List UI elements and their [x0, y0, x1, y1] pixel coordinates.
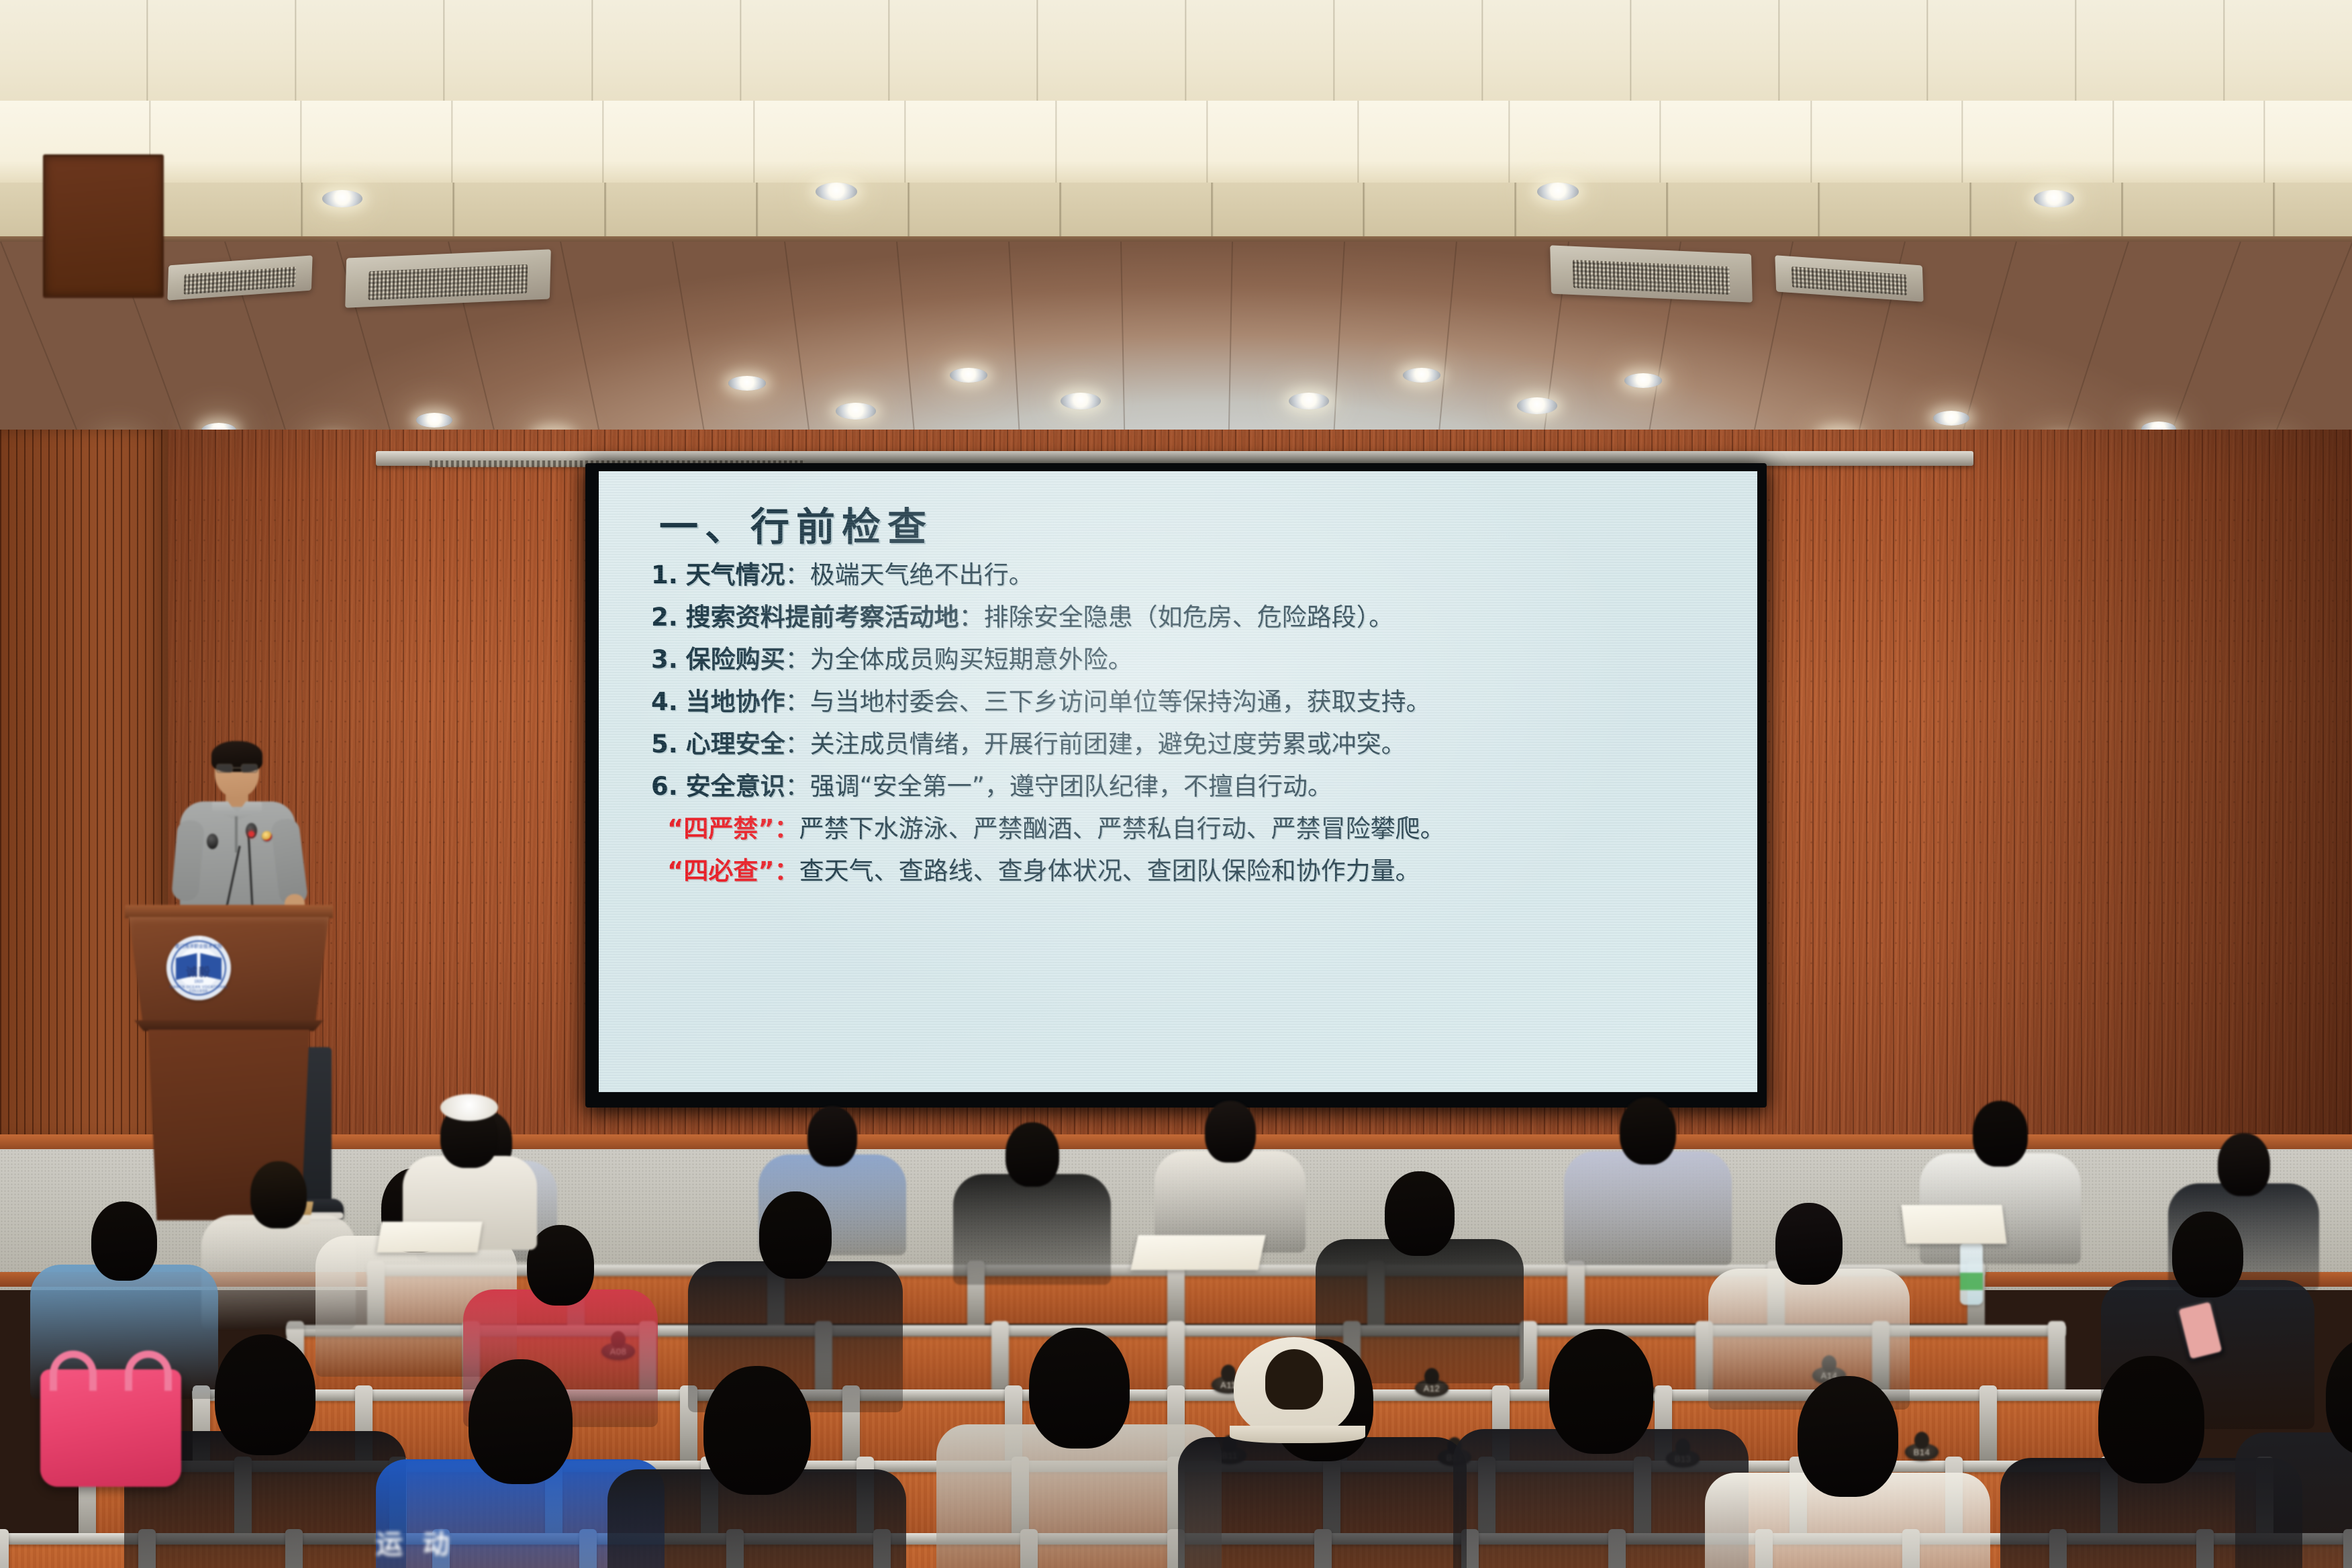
slide-line-6: 6. 安全意识：强调“安全第一”，遵守团队纪律，不擅自行动。 — [651, 774, 1728, 799]
ceiling-light-cove — [0, 101, 2352, 187]
emblem-bottom-text: XIAMEN OCEAN VOCATIONAL COLLEGE — [166, 985, 231, 993]
person-head — [91, 1202, 157, 1281]
person-head — [1798, 1376, 1898, 1497]
seat-divider — [0, 1529, 9, 1568]
audience-front-9 — [2235, 1336, 2352, 1568]
papers-on-desk-left — [377, 1222, 482, 1253]
slide-line-1: 1. 天气情况：极端天气绝不出行。 — [651, 562, 1728, 587]
emblem-top-text: 厦门海洋职业技术学院 — [166, 942, 231, 949]
person-head — [2218, 1133, 2270, 1196]
person-head — [1775, 1203, 1843, 1285]
emblem-center-text: 诚毅 — [166, 963, 231, 979]
audience-front-6 — [1453, 1329, 1749, 1568]
lecture-hall-photo: 一、行前检查 1. 天气情况：极端天气绝不出行。2. 搜索资料提前考察活动地：排… — [0, 0, 2352, 1568]
audience-front-3 — [607, 1366, 906, 1568]
microphone-indicator-light — [248, 831, 254, 837]
person-head — [2098, 1356, 2204, 1483]
person-head — [1205, 1101, 1256, 1163]
person-head — [807, 1106, 857, 1167]
slide-line-2: 2. 搜索资料提前考察活动地：排除安全隐患（如危房、危险路段）。 — [651, 605, 1728, 630]
audience-back-7 — [1920, 1101, 2081, 1277]
ceiling-downlight-5 — [1403, 368, 1440, 383]
person-torso — [1564, 1151, 1732, 1265]
audience-back-6 — [1564, 1097, 1732, 1279]
ceiling-downlight-21 — [1537, 183, 1579, 201]
person-torso — [2235, 1432, 2352, 1568]
slide-line-3: 3. 保险购买：为全体成员购买短期意外险。 — [651, 647, 1728, 672]
person-head — [759, 1191, 832, 1279]
papers-on-desk-right — [1901, 1205, 2006, 1244]
person-head — [1549, 1329, 1653, 1454]
ceiling-downlight-15 — [1517, 397, 1557, 414]
ceiling-downlight-4 — [950, 368, 987, 383]
person-head — [2172, 1212, 2243, 1297]
ceiling-downlight-2 — [416, 413, 452, 428]
cap-brim — [1230, 1426, 1365, 1443]
person-head — [1385, 1171, 1455, 1256]
ceiling-upper-panels — [0, 0, 2352, 104]
ceiling-downlight-7 — [1933, 411, 1969, 426]
person-head — [1006, 1122, 1059, 1187]
slide-line-4: 4. 当地协作：与当地村委会、三下乡访问单位等保持沟通，获取支持。 — [651, 689, 1728, 714]
party-badge-icon — [262, 831, 272, 841]
slide-heading: 一、行前检查 — [659, 507, 1728, 546]
person-head — [527, 1225, 594, 1306]
water-bottle — [1960, 1243, 1983, 1305]
slide-body: 1. 天气情况：极端天气绝不出行。2. 搜索资料提前考察活动地：排除安全隐患（如… — [651, 562, 1728, 883]
seat-divider — [1167, 1261, 1185, 1326]
slide-line-5: 5. 心理安全：关注成员情绪，开展行前团建，避免过度劳累或冲突。 — [651, 732, 1728, 756]
podium-shelf — [134, 1020, 324, 1031]
ceiling-downlight-3 — [728, 376, 766, 391]
speaker-shirt-placket — [235, 816, 238, 852]
ac-vent-center-left — [345, 249, 551, 307]
ceiling-downlight-14 — [1289, 393, 1329, 409]
podium-top-surface — [125, 905, 333, 918]
ceiling-downlight-12 — [836, 403, 876, 420]
ac-vent-center-right — [1550, 245, 1753, 302]
speaker-person — [173, 745, 301, 913]
ceiling-downlight-19 — [322, 190, 362, 207]
papers-on-desk-center — [1130, 1235, 1265, 1270]
person-head — [215, 1334, 315, 1455]
slide-red-line-1: “四严禁”：严禁下水游泳、严禁酗酒、严禁私自行动、严禁冒险攀爬。 — [667, 816, 1728, 841]
podium-front-panel — [43, 154, 164, 298]
beige-cap — [1234, 1337, 1355, 1438]
emblem-year: 1920 — [166, 980, 231, 984]
person-head — [703, 1366, 811, 1495]
white-hair-scrunchie — [440, 1094, 498, 1121]
microphone-left-head — [207, 834, 218, 849]
person-torso — [953, 1174, 1111, 1285]
slide-red-line-2: “四必查”：查天气、查路线、查身体状况、查团队保险和协作力量。 — [667, 859, 1728, 883]
ceiling-downlight-22 — [2034, 190, 2074, 207]
ceiling-downlight-6 — [1624, 373, 1662, 388]
ceiling-downlight-20 — [816, 183, 857, 201]
person-head — [469, 1359, 573, 1484]
pink-handbag — [40, 1369, 181, 1487]
college-emblem: 厦门海洋职业技术学院 诚毅 1920 XIAMEN OCEAN VOCATION… — [166, 936, 231, 1000]
audience-front-7 — [1705, 1376, 1990, 1568]
person-head — [1620, 1097, 1676, 1165]
audience-back-4 — [953, 1122, 1111, 1297]
shirt-printed-text: 运 动 — [376, 1522, 455, 1561]
presentation-slide: 一、行前检查 1. 天气情况：极端天气绝不出行。2. 搜索资料提前考察活动地：排… — [599, 471, 1757, 1092]
person-head — [250, 1161, 307, 1228]
ceiling-downlight-13 — [1061, 393, 1101, 409]
speaker-glasses — [216, 764, 258, 773]
person-head — [1973, 1101, 2028, 1167]
projection-screen[interactable]: 一、行前检查 1. 天气情况：极端天气绝不出行。2. 搜索资料提前考察活动地：排… — [599, 471, 1757, 1092]
cap-ponytail-slot — [1265, 1349, 1323, 1410]
person-head — [1029, 1328, 1130, 1449]
